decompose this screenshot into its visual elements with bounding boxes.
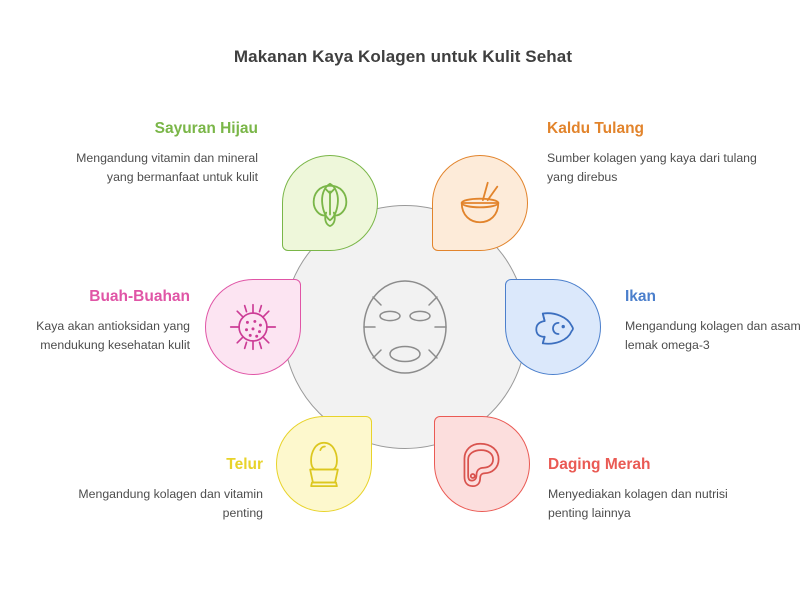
page-title: Makanan Kaya Kolagen untuk Kulit Sehat: [0, 47, 806, 67]
category-description-telur: Mengandung kolagen dan vitamin penting: [53, 485, 263, 522]
leafy-greens-icon: [283, 156, 377, 250]
fish-icon: [506, 280, 600, 374]
spiky-fruit-icon: [206, 280, 300, 374]
category-block-telur: Telur Mengandung kolagen dan vitamin pen…: [53, 456, 263, 522]
soup-bowl-chopsticks-icon: [433, 156, 527, 250]
category-title-sayuran-hijau: Sayuran Hijau: [48, 120, 258, 138]
face-sheet-mask-icon: [350, 268, 460, 386]
category-description-daging-merah: Menyediakan kolagen dan nutrisi penting …: [548, 485, 758, 522]
category-pin-daging-merah[interactable]: [434, 416, 530, 512]
category-block-ikan: Ikan Mengandung kolagen dan asam lemak o…: [625, 288, 806, 354]
category-title-telur: Telur: [53, 456, 263, 474]
category-title-ikan: Ikan: [625, 288, 806, 306]
category-block-buah-buahan: Buah-Buahan Kaya akan antioksidan yang m…: [0, 288, 190, 354]
category-description-ikan: Mengandung kolagen dan asam lemak omega-…: [625, 317, 806, 354]
category-title-daging-merah: Daging Merah: [548, 456, 758, 474]
egg-in-cup-icon: [277, 417, 371, 511]
category-block-daging-merah: Daging Merah Menyediakan kolagen dan nut…: [548, 456, 758, 522]
category-pin-buah-buahan[interactable]: [205, 279, 301, 375]
category-title-buah-buahan: Buah-Buahan: [0, 288, 190, 306]
category-block-sayuran-hijau: Sayuran Hijau Mengandung vitamin dan min…: [48, 120, 258, 186]
category-pin-kaldu-tulang[interactable]: [432, 155, 528, 251]
category-block-kaldu-tulang: Kaldu Tulang Sumber kolagen yang kaya da…: [547, 120, 757, 186]
category-title-kaldu-tulang: Kaldu Tulang: [547, 120, 757, 138]
category-description-kaldu-tulang: Sumber kolagen yang kaya dari tulang yan…: [547, 149, 757, 186]
category-pin-sayuran-hijau[interactable]: [282, 155, 378, 251]
category-pin-telur[interactable]: [276, 416, 372, 512]
category-description-sayuran-hijau: Mengandung vitamin dan mineral yang berm…: [48, 149, 258, 186]
category-pin-ikan[interactable]: [505, 279, 601, 375]
category-description-buah-buahan: Kaya akan antioksidan yang mendukung kes…: [0, 317, 190, 354]
meat-cut-icon: [435, 417, 529, 511]
